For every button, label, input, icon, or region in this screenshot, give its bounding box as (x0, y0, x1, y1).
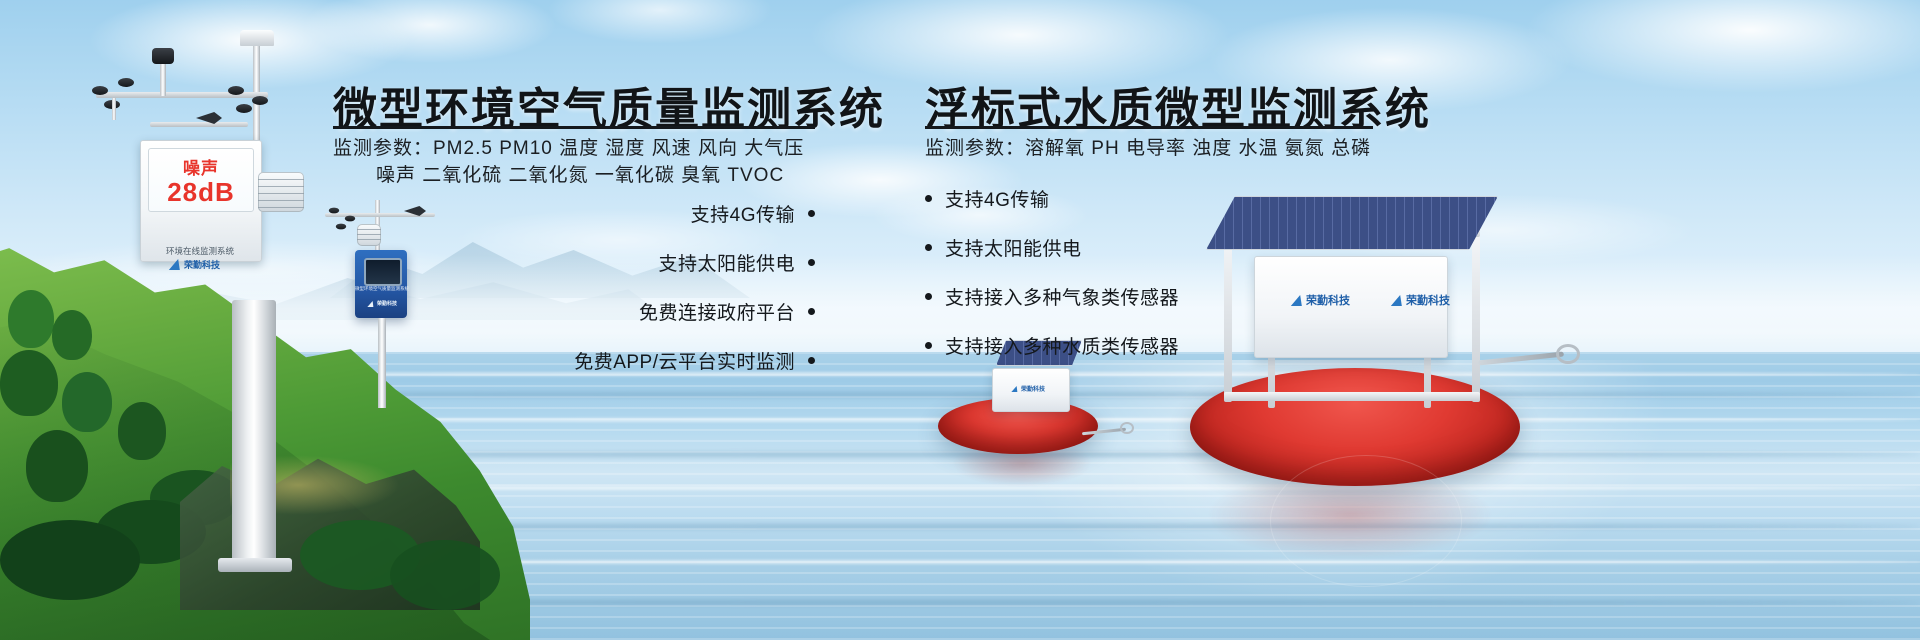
brand-name: 荣勤科技 (1406, 292, 1450, 308)
brand-mark-icon (1391, 295, 1404, 306)
anemometer-cup (345, 216, 355, 222)
feature-label: 支持4G传输 (945, 185, 1049, 212)
feature-item: 支持接入多种水质类传感器 (925, 332, 1345, 359)
station-pole (232, 300, 276, 565)
rain-gauge (240, 30, 274, 46)
brand-name: 荣勤科技 (184, 258, 220, 271)
banner-root: 噪声 28dB 环境在线监测系统 荣勤科技 微型环境空气质量监测系统 荣勤科技 (0, 0, 1920, 640)
bullet-dot-icon (925, 342, 932, 349)
feature-item: 免费APP/云平台实时监测 (415, 347, 815, 374)
tree (0, 350, 58, 416)
vane-arm (150, 122, 248, 127)
anemometer-cup (92, 86, 108, 95)
bullet-dot-icon (925, 195, 932, 202)
brand-mark-icon (367, 301, 374, 307)
tree (52, 310, 92, 360)
anemometer-cup (228, 86, 244, 95)
buoy-antenna-loop (1556, 344, 1580, 364)
feature-item: 免费连接政府平台 (415, 298, 815, 325)
bush (0, 520, 140, 600)
bullet-dot-icon (808, 210, 815, 217)
buoy-frame-rail (1224, 392, 1480, 401)
feature-item: 支持4G传输 (415, 200, 815, 227)
bullet-dot-icon (925, 244, 932, 251)
buoy-brand-logo: 荣勤科技 (1012, 384, 1045, 393)
bullet-dot-icon (925, 293, 932, 300)
feature-label: 支持接入多种气象类传感器 (945, 283, 1179, 310)
noise-value: 28dB (149, 177, 253, 208)
anemometer-cup (236, 104, 252, 113)
blue-box-screen (364, 258, 402, 286)
feature-label: 支持太阳能供电 (945, 234, 1082, 261)
left-panel-params-line1: 监测参数：PM2.5 PM10 温度 湿度 风速 风向 大气压 (333, 133, 804, 160)
sensor-riser (160, 60, 166, 96)
blue-box-brand: 荣勤科技 (368, 300, 397, 307)
radiation-shield (258, 172, 304, 212)
bullet-dot-icon (808, 259, 815, 266)
feature-label: 支持4G传输 (691, 200, 795, 227)
blue-box-pole (378, 318, 386, 408)
bush (390, 540, 500, 610)
noise-label: 噪声 (149, 154, 253, 179)
bullet-dot-icon (808, 357, 815, 364)
radiation-shield (357, 224, 381, 246)
blue-box-caption: 微型环境空气质量监测系统 (355, 286, 407, 292)
feature-item: 支持4G传输 (925, 185, 1345, 212)
right-panel-title-rule (925, 126, 1373, 129)
brand-name: 荣勤科技 (377, 300, 397, 307)
anemometer-cup (252, 96, 268, 105)
buoy-frame-post (1472, 232, 1480, 402)
feature-label: 支持接入多种水质类传感器 (945, 332, 1179, 359)
station-base (218, 558, 292, 572)
anemometer-cup (336, 224, 346, 230)
anemometer-cup (329, 208, 339, 214)
brand-mark-icon (169, 259, 182, 270)
feature-item: 支持太阳能供电 (925, 234, 1345, 261)
brand-name: 荣勤科技 (1021, 384, 1045, 393)
left-panel-title-rule (333, 126, 815, 129)
station-brand-logo: 荣勤科技 (170, 258, 220, 271)
buoy-brand-logo: 荣勤科技 (1392, 292, 1450, 308)
left-panel-params-line2: 噪声 二氧化硫 二氧化氮 一氧化碳 臭氧 TVOC (376, 160, 784, 187)
tree (8, 290, 54, 348)
feature-item: 支持太阳能供电 (415, 249, 815, 276)
tree (62, 372, 112, 432)
feature-label: 支持太阳能供电 (658, 249, 795, 276)
feature-label: 免费连接政府平台 (639, 298, 795, 325)
cabinet-caption: 环境在线监测系统 (148, 245, 252, 257)
radiation-sensor (152, 48, 174, 64)
left-panel-feature-list: 支持4G传输 支持太阳能供电 免费连接政府平台 免费APP/云平台实时监测 (415, 200, 815, 396)
underwater-sensor-halo (1270, 455, 1462, 587)
feature-item: 支持接入多种气象类传感器 (925, 283, 1345, 310)
tree (118, 402, 166, 460)
right-panel-params-line1: 监测参数：溶解氧 PH 电导率 浊度 水温 氨氮 总磷 (925, 133, 1371, 160)
buoy-antenna-loop (1120, 422, 1134, 434)
anemometer-cup (118, 78, 134, 87)
tree (26, 430, 88, 502)
right-panel-feature-list: 支持4G传输 支持太阳能供电 支持接入多种气象类传感器 支持接入多种水质类传感器 (925, 185, 1345, 381)
feature-label: 免费APP/云平台实时监测 (574, 347, 795, 374)
noise-display-screen: 噪声 28dB (148, 148, 254, 212)
anemometer-shaft (112, 98, 116, 120)
brand-mark-icon (1011, 386, 1018, 392)
bullet-dot-icon (808, 308, 815, 315)
